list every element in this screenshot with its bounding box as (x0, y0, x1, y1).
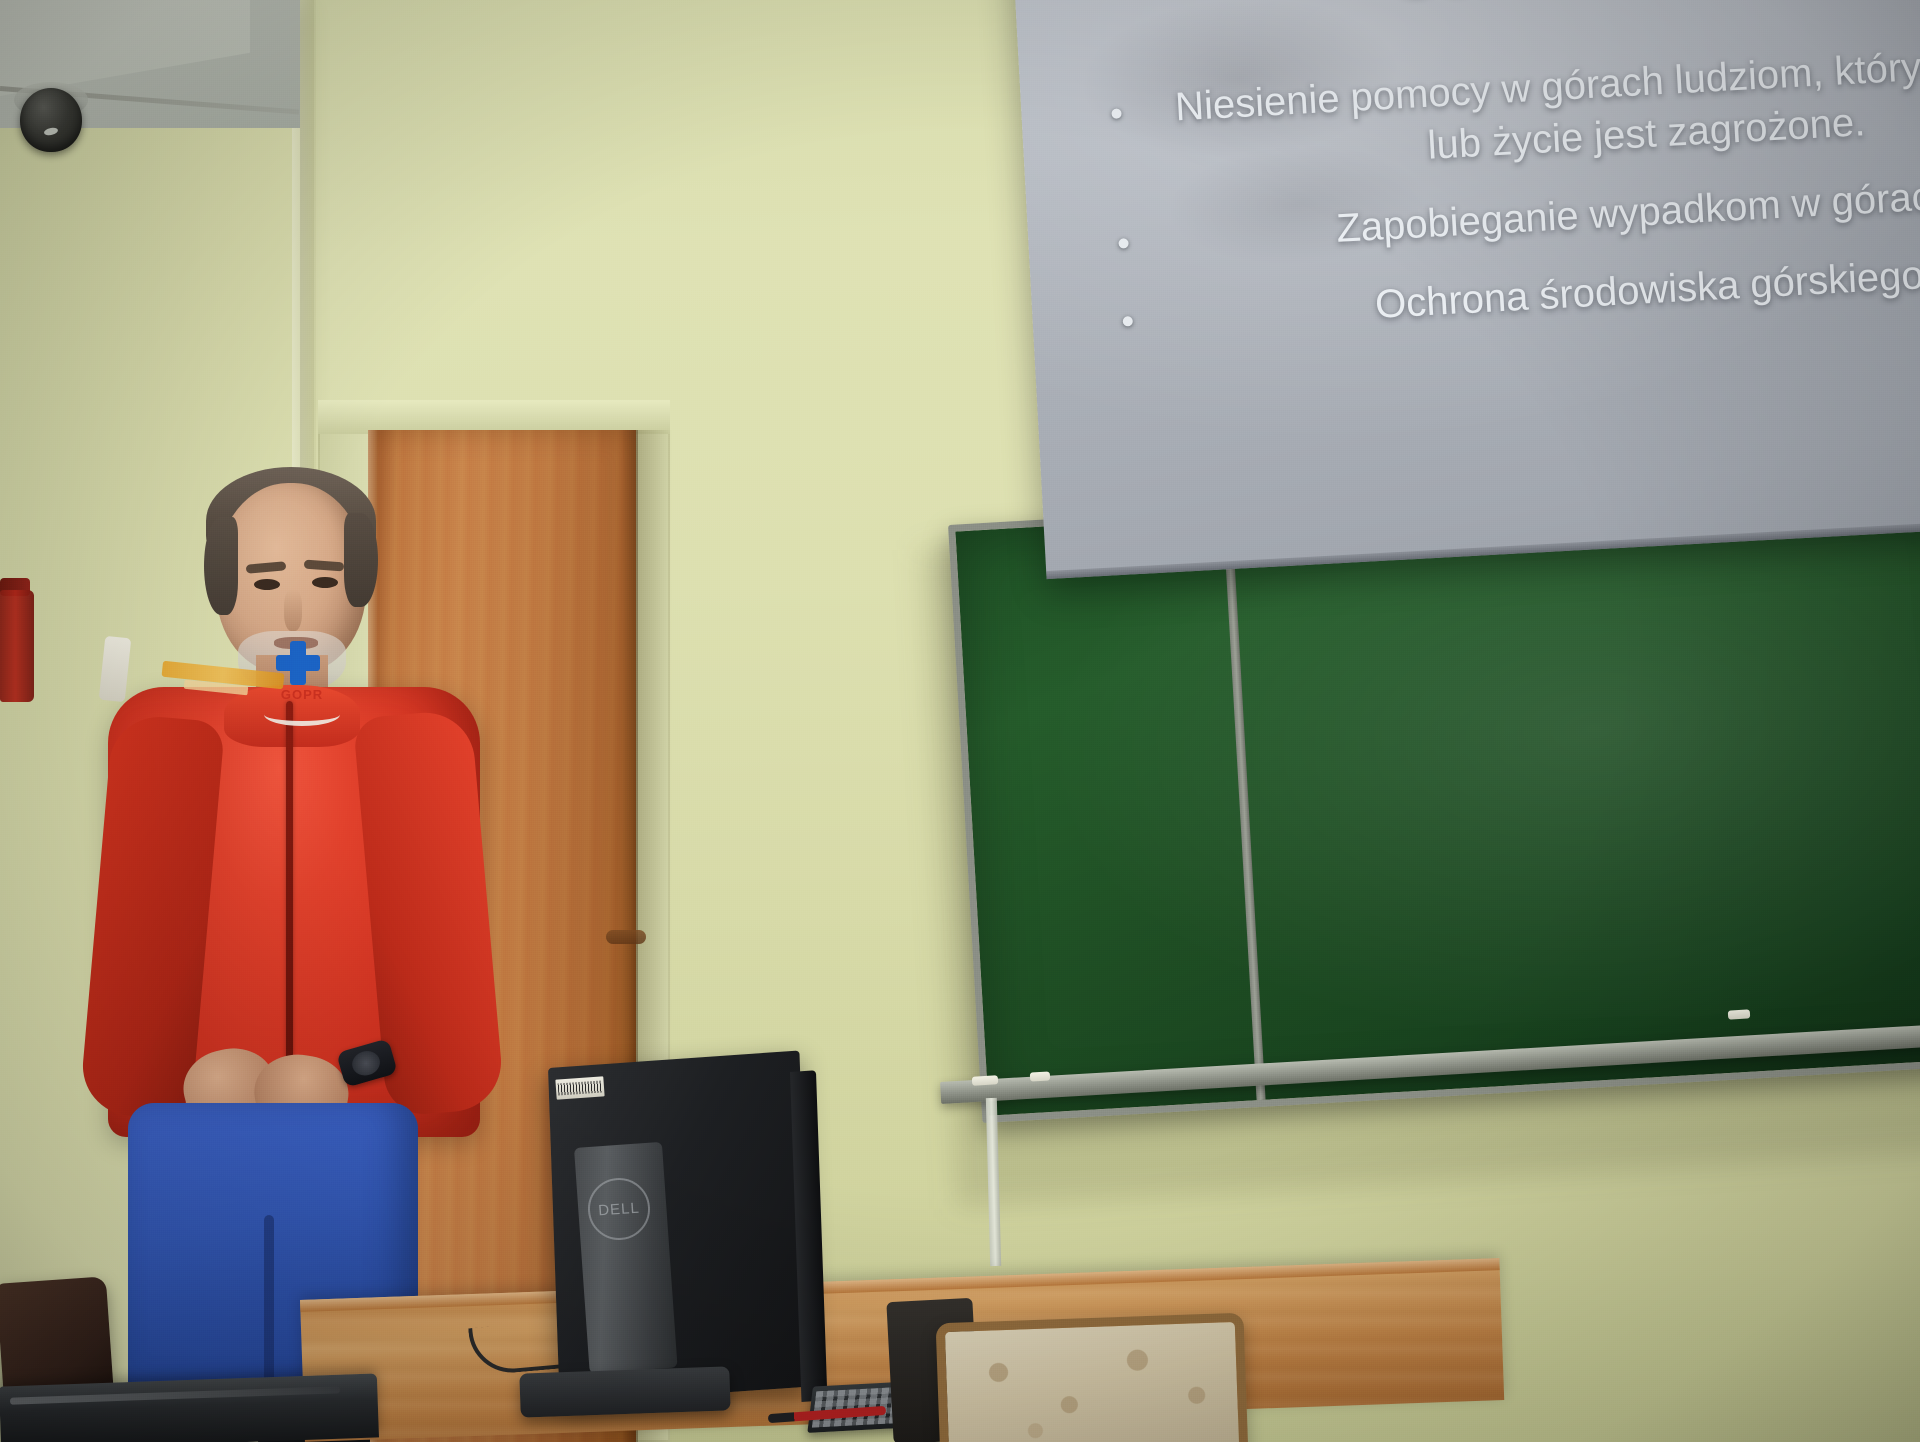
presenter-hair-right (344, 513, 378, 607)
jacket-badge-label: GOPR (266, 687, 338, 702)
bullet-dot-icon (1123, 316, 1134, 327)
fire-extinguisher-icon (0, 590, 34, 702)
chalk-icon[interactable] (1030, 1071, 1050, 1081)
slide-bullet-text: Zapobieganie wypadkom w górach. (1335, 173, 1920, 251)
trouser-leg-seam (264, 1215, 274, 1403)
slide-bullet-text: Ochrona środowiska górskiego. (1374, 253, 1920, 327)
presenter-nose (284, 589, 302, 631)
dome-camera-icon (20, 88, 82, 152)
projection-screen: Cele Statutowe Niesienie pomocy w górach… (1012, 0, 1920, 579)
slide-title: Cele Statutowe (1173, 0, 1920, 21)
sleeve-badge (99, 636, 132, 702)
chalk-icon[interactable] (972, 1075, 998, 1085)
slide-bullet-item: Niesienie pomocy w górach ludziom, który… (1100, 29, 1920, 189)
classroom-photo: Cele Statutowe Niesienie pomocy w górach… (0, 0, 1920, 1442)
laptop[interactable] (0, 1373, 379, 1442)
asset-barcode-label (555, 1076, 604, 1099)
barcode-icon (558, 1080, 603, 1095)
chair[interactable] (936, 1313, 1249, 1442)
chair-floral-pattern (945, 1322, 1239, 1442)
presenter-eye-left (254, 579, 280, 590)
rescue-cross-icon (276, 641, 320, 685)
monitor-base (519, 1366, 730, 1417)
door-frame-header (318, 400, 670, 434)
monitor-stand (574, 1142, 678, 1374)
door-handle[interactable] (606, 930, 646, 944)
slide-bullet-list: Niesienie pomocy w górach ludziom, który… (1100, 29, 1920, 371)
bullet-dot-icon (1118, 238, 1129, 249)
projection-screen-assembly: Cele Statutowe Niesienie pomocy w górach… (1012, 0, 1920, 579)
presenter-hair-left (204, 517, 238, 615)
slide-bullet-text: Niesienie pomocy w górach ludziom, który… (1174, 35, 1920, 168)
badge-swoosh (264, 703, 340, 726)
presenter-eye-right (312, 577, 338, 588)
projected-slide: Cele Statutowe Niesienie pomocy w górach… (1012, 0, 1920, 579)
wristwatch-face (349, 1048, 383, 1079)
chalk-icon[interactable] (1728, 1009, 1750, 1019)
bullet-dot-icon (1111, 108, 1122, 119)
